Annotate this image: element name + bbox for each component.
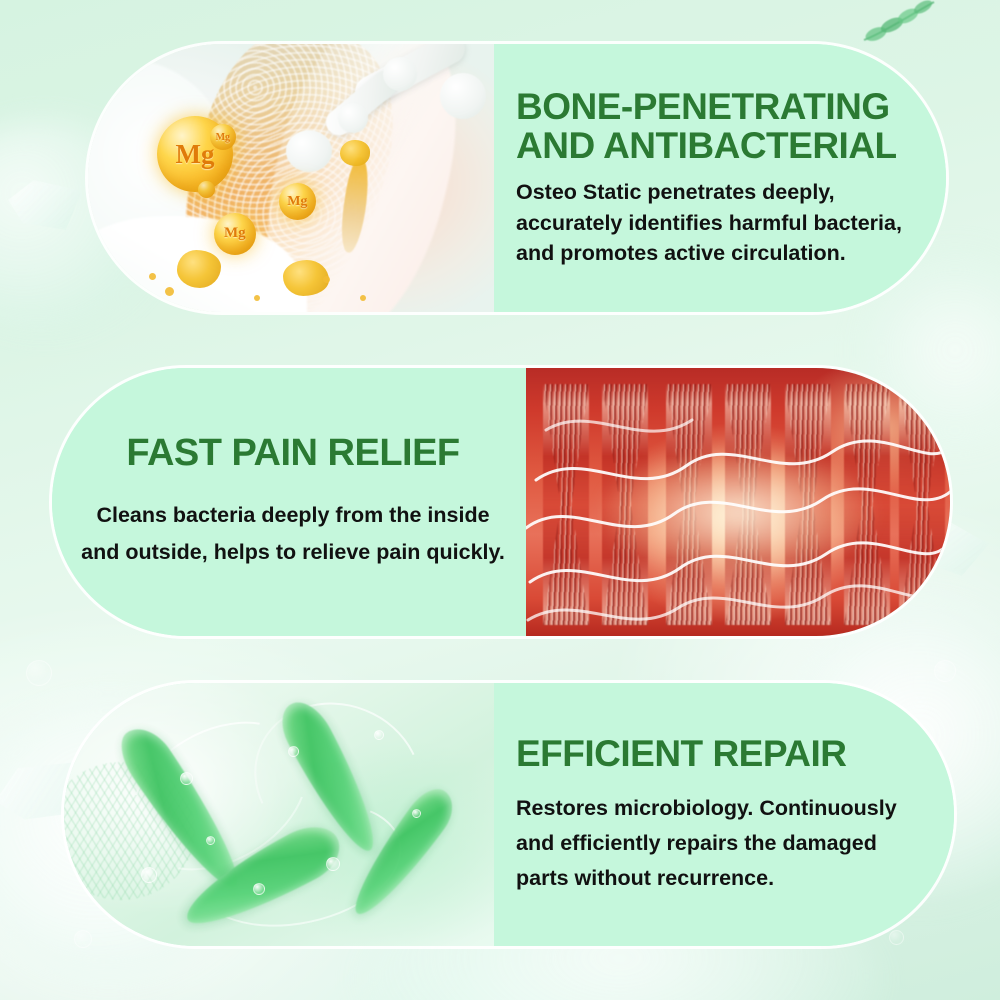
feature-panel-bone-penetrating: Mg Mg Mg Mg BONE-PENETRATING AND ANTIBAC…: [88, 44, 946, 312]
mint-leaf-icon: [858, 0, 942, 50]
bacteria-cluster-icon: [340, 140, 370, 166]
panel-heading-line-1: EFFICIENT REPAIR: [516, 734, 934, 773]
panel-heading-line-1: BONE-PENETRATING: [516, 87, 932, 126]
bone-fragment-icon: [440, 73, 486, 119]
panel-text-block: EFFICIENT REPAIR Restores microbiology. …: [494, 683, 954, 946]
magnesium-molecule-icon: [198, 181, 215, 198]
bubble-icon: [26, 660, 52, 686]
panel-body-text: Osteo Static penetrates deeply, accurate…: [516, 177, 932, 269]
feature-panel-fast-pain-relief: FAST PAIN RELIEF Cleans bacteria deeply …: [52, 368, 950, 636]
bubble-icon: [934, 660, 956, 682]
nerve-fiber-image: [526, 368, 950, 636]
ice-shard-icon: [8, 180, 82, 230]
bone-fragment-icon: [338, 103, 368, 133]
green-gel-helix-image: [64, 683, 494, 946]
feature-panel-efficient-repair: EFFICIENT REPAIR Restores microbiology. …: [64, 683, 954, 946]
bone-cross-section-image: Mg Mg Mg Mg: [88, 44, 494, 312]
magnesium-molecule-icon: Mg: [279, 183, 316, 220]
panel-heading: BONE-PENETRATING AND ANTIBACTERIAL: [516, 87, 932, 165]
panel-body-line-2: and outside, helps to relieve pain quick…: [78, 534, 508, 571]
panel-text-block: BONE-PENETRATING AND ANTIBACTERIAL Osteo…: [494, 44, 946, 312]
panel-text-block: FAST PAIN RELIEF Cleans bacteria deeply …: [52, 368, 526, 636]
magnesium-molecule-icon: Mg: [210, 124, 236, 150]
bacteria-cluster-icon: [283, 260, 329, 296]
panel-heading: EFFICIENT REPAIR: [516, 734, 934, 773]
panel-body-text: Restores microbiology. Continuously and …: [516, 791, 934, 895]
panel-heading-line-2: AND ANTIBACTERIAL: [516, 126, 932, 165]
panel-heading-line-1: FAST PAIN RELIEF: [78, 433, 508, 473]
magnesium-molecule-icon: Mg: [214, 213, 256, 255]
panel-heading: FAST PAIN RELIEF: [78, 433, 508, 473]
energy-wave-icon: [526, 368, 950, 636]
bone-fragment-icon: [286, 130, 332, 172]
panel-body-text: Cleans bacteria deeply from the inside a…: [78, 497, 508, 571]
panel-body-line-1: Cleans bacteria deeply from the inside: [78, 497, 508, 534]
